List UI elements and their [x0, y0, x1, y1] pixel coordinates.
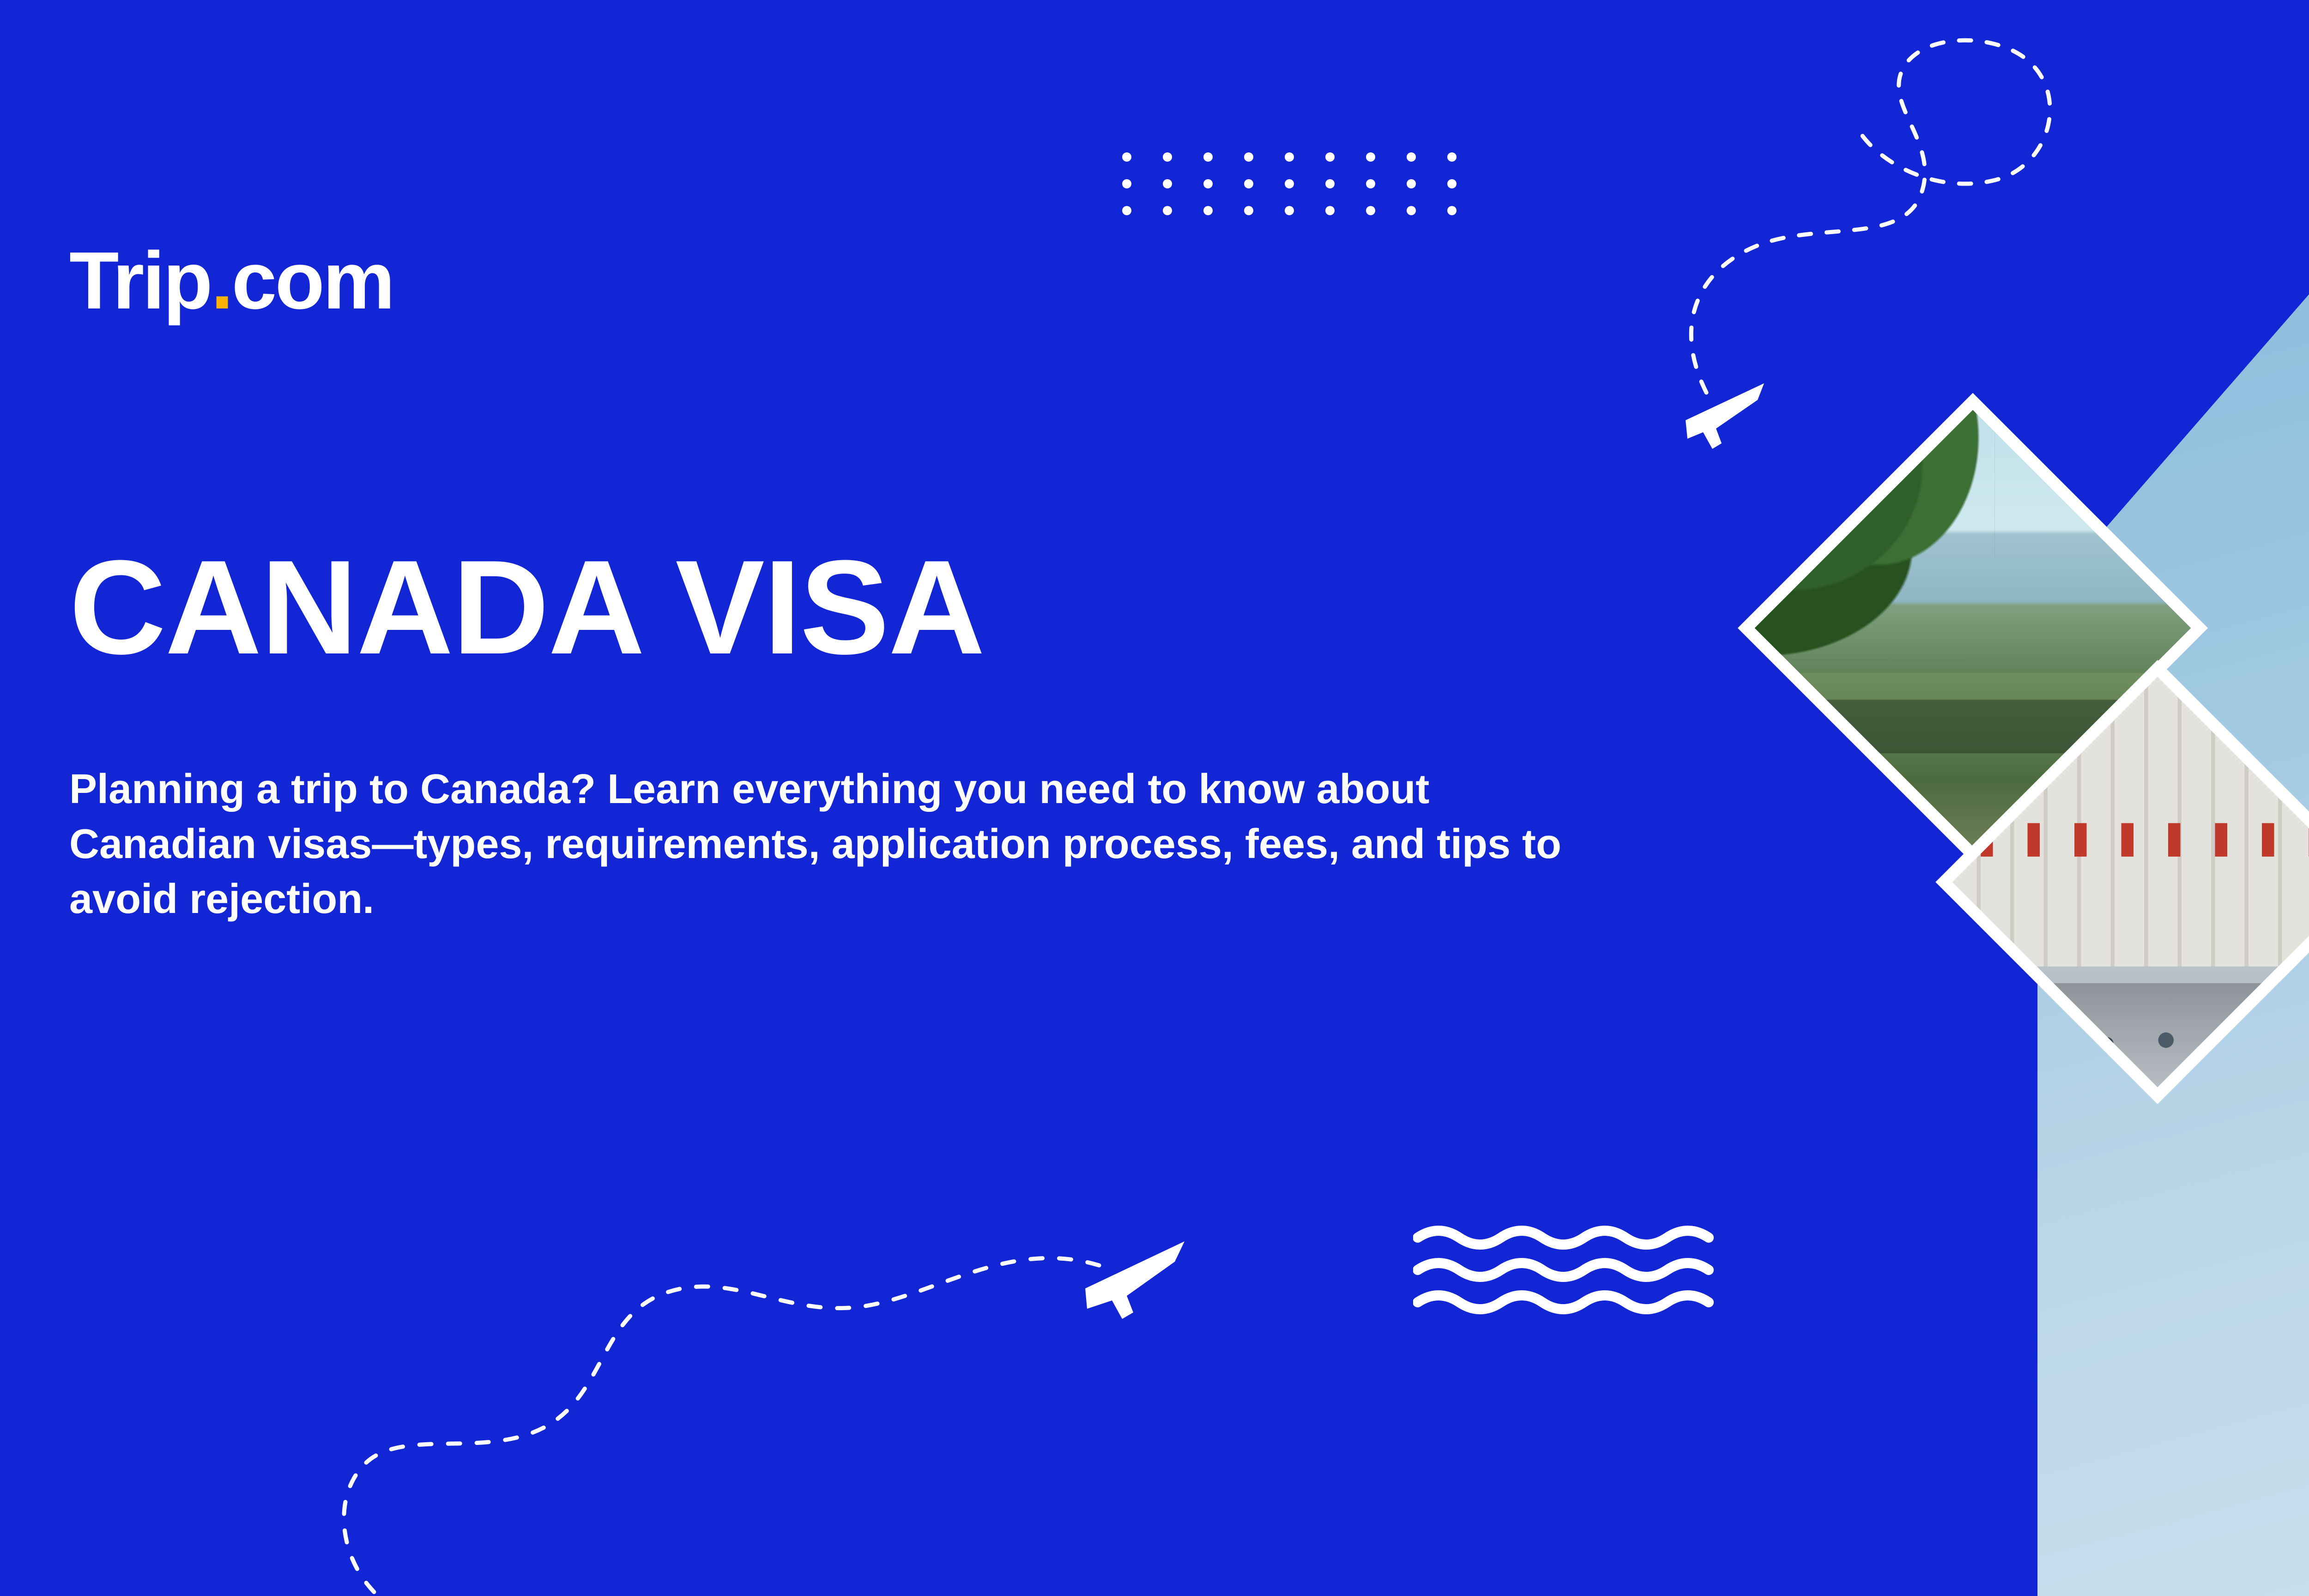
airplane-icon	[1672, 365, 1773, 457]
dot	[1325, 152, 1335, 162]
trip-com-logo[interactable]: Trip.com	[69, 240, 393, 321]
dot	[1122, 206, 1131, 215]
dot	[1325, 206, 1335, 215]
airplane-icon	[1076, 1219, 1196, 1325]
dot	[1447, 179, 1457, 188]
dot	[1163, 179, 1172, 188]
dot	[1122, 152, 1131, 162]
dot	[1407, 206, 1416, 215]
dot	[1325, 179, 1335, 188]
dotted-flight-path-top	[1644, 28, 2152, 411]
dot	[1122, 179, 1131, 188]
dot	[1244, 206, 1253, 215]
dotted-flight-path-bottom	[286, 1242, 1164, 1596]
dot	[1366, 152, 1375, 162]
dot	[1407, 152, 1416, 162]
dot	[1447, 152, 1457, 162]
dot-grid	[1122, 152, 1501, 217]
dot	[1203, 206, 1213, 215]
canada-visa-banner: Trip.com CANADA VISA Planning a trip to …	[0, 0, 2309, 1596]
logo-dot: .	[211, 236, 232, 326]
dot	[1285, 206, 1294, 215]
logo-text-suffix: com	[232, 236, 393, 326]
logo-text-main: Trip	[69, 236, 211, 326]
dot	[1447, 206, 1457, 215]
page-title: CANADA VISA	[69, 540, 984, 674]
dot	[1285, 179, 1294, 188]
dot	[1203, 152, 1213, 162]
dot	[1366, 206, 1375, 215]
dot	[1285, 152, 1294, 162]
wave-lines	[1413, 1224, 1764, 1316]
dot	[1163, 206, 1172, 215]
dot	[1163, 152, 1172, 162]
dot	[1366, 179, 1375, 188]
dot	[1244, 152, 1253, 162]
page-description: Planning a trip to Canada? Learn everyth…	[69, 762, 1616, 926]
dot	[1407, 179, 1416, 188]
dot	[1244, 179, 1253, 188]
dot	[1203, 179, 1213, 188]
